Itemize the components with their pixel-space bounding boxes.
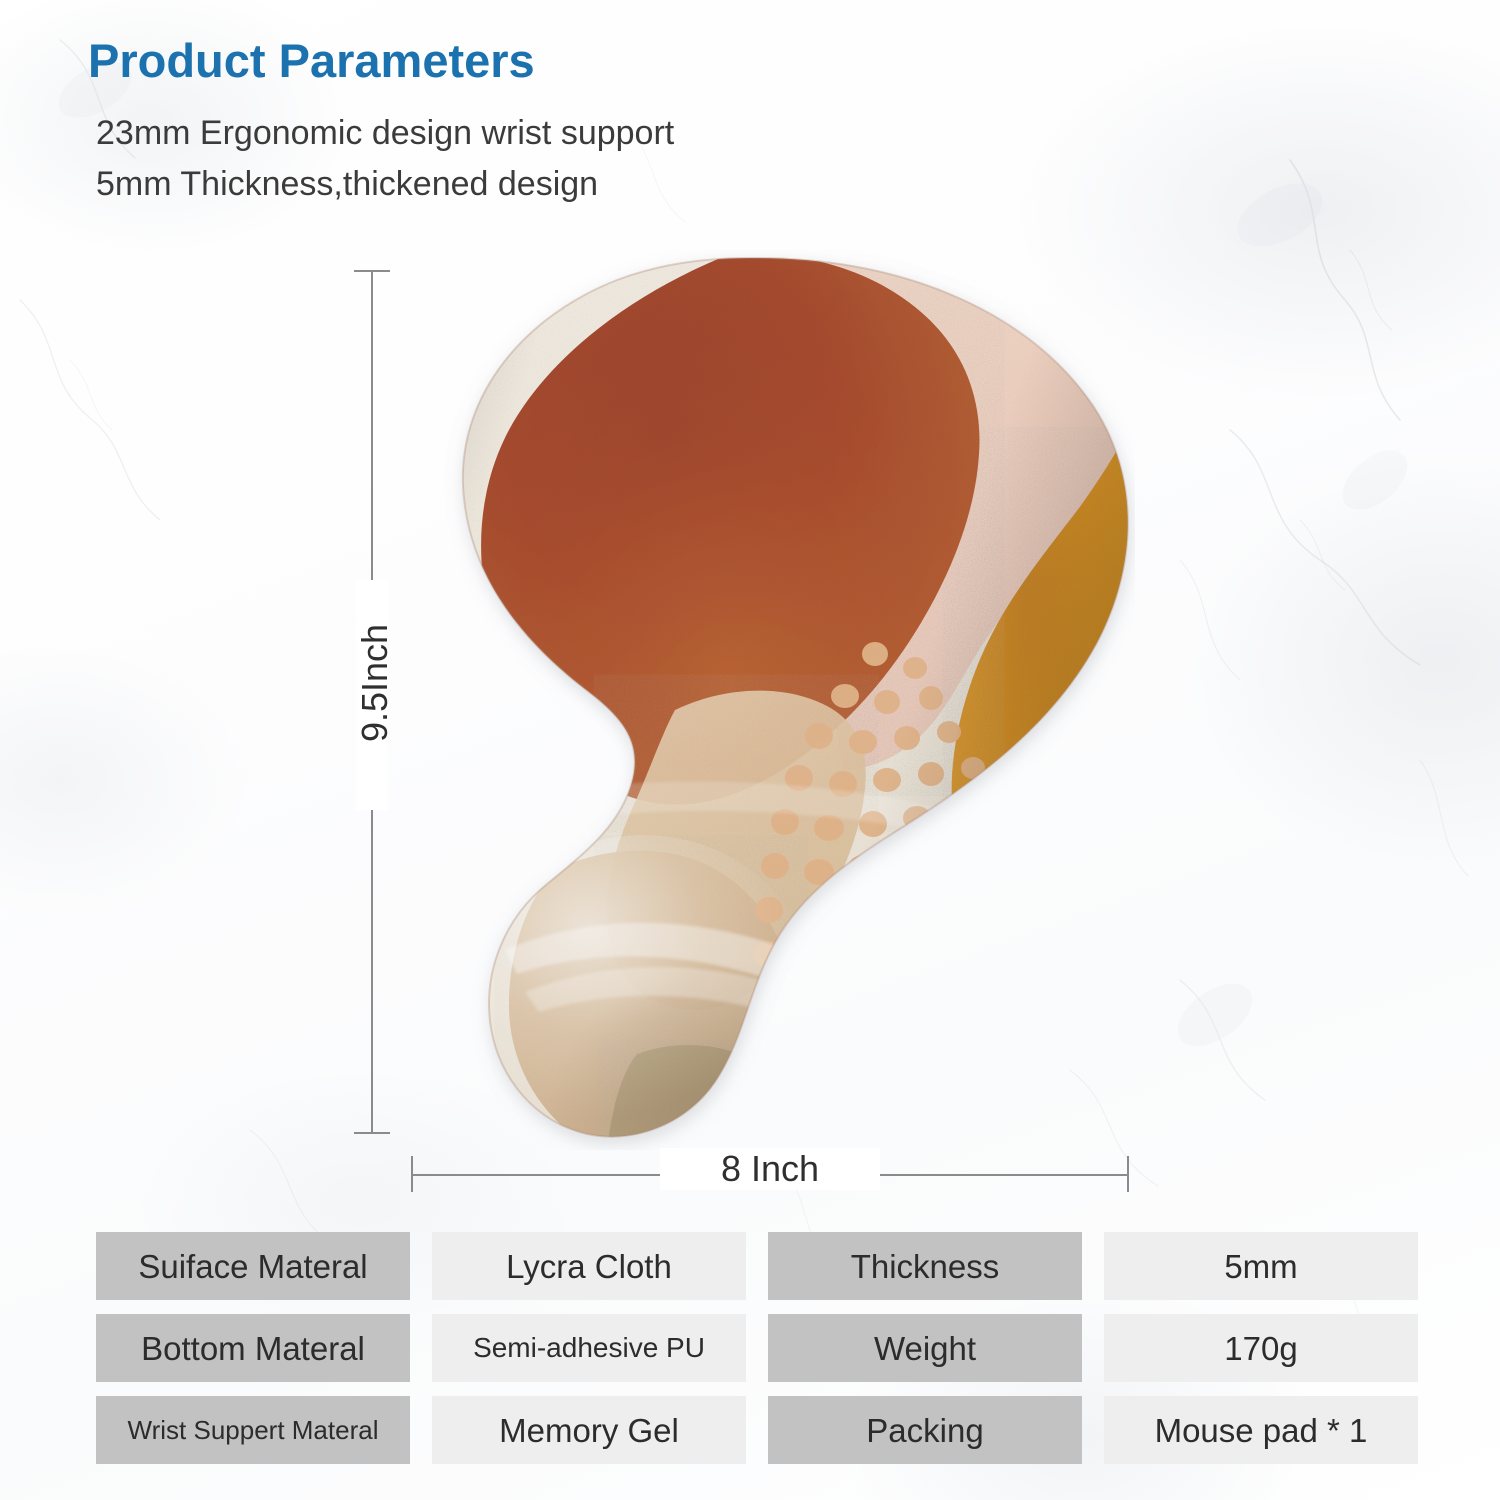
shape-black [761,1045,1035,1150]
table-row: Wrist Suppert Materal Memory Gel Packing… [96,1396,1416,1464]
product-stage: 9.5Inch [0,240,1500,1200]
feature-line-thickness: 5mm Thickness,thickened design [88,159,1088,211]
spec-label-wrist-support-material: Wrist Suppert Materal [96,1396,410,1464]
header-block: Product Parameters 23mm Ergonomic design… [88,36,1088,211]
spec-value-weight: 170g [1104,1314,1418,1382]
page-title: Product Parameters [88,36,1088,86]
spec-value-wrist-support-material: Memory Gel [432,1396,746,1464]
dimension-width-label: 8 Inch [660,1148,880,1190]
feature-line-ergonomic: 23mm Ergonomic design wrist support [88,108,1088,160]
spec-value-thickness: 5mm [1104,1232,1418,1300]
mouse-pad-body [375,250,1135,1150]
spec-label-surface-material: Suiface Materal [96,1232,410,1300]
dimension-width: 8 Inch [405,1140,1135,1210]
spec-label-packing: Packing [768,1396,1082,1464]
dimension-width-cap-right [1127,1156,1129,1192]
spec-label-thickness: Thickness [768,1232,1082,1300]
spec-value-packing: Mouse pad * 1 [1104,1396,1418,1464]
spec-value-bottom-material: Semi-adhesive PU [432,1314,746,1382]
dimension-width-cap-left [411,1156,413,1192]
spec-label-weight: Weight [768,1314,1082,1382]
mouse-pad-illustration [375,250,1135,1150]
table-row: Bottom Materal Semi-adhesive PU Weight 1… [96,1314,1416,1382]
spec-table: Suiface Materal Lycra Cloth Thickness 5m… [96,1232,1416,1464]
spec-label-bottom-material: Bottom Materal [96,1314,410,1382]
spec-value-surface-material: Lycra Cloth [432,1232,746,1300]
table-row: Suiface Materal Lycra Cloth Thickness 5m… [96,1232,1416,1300]
